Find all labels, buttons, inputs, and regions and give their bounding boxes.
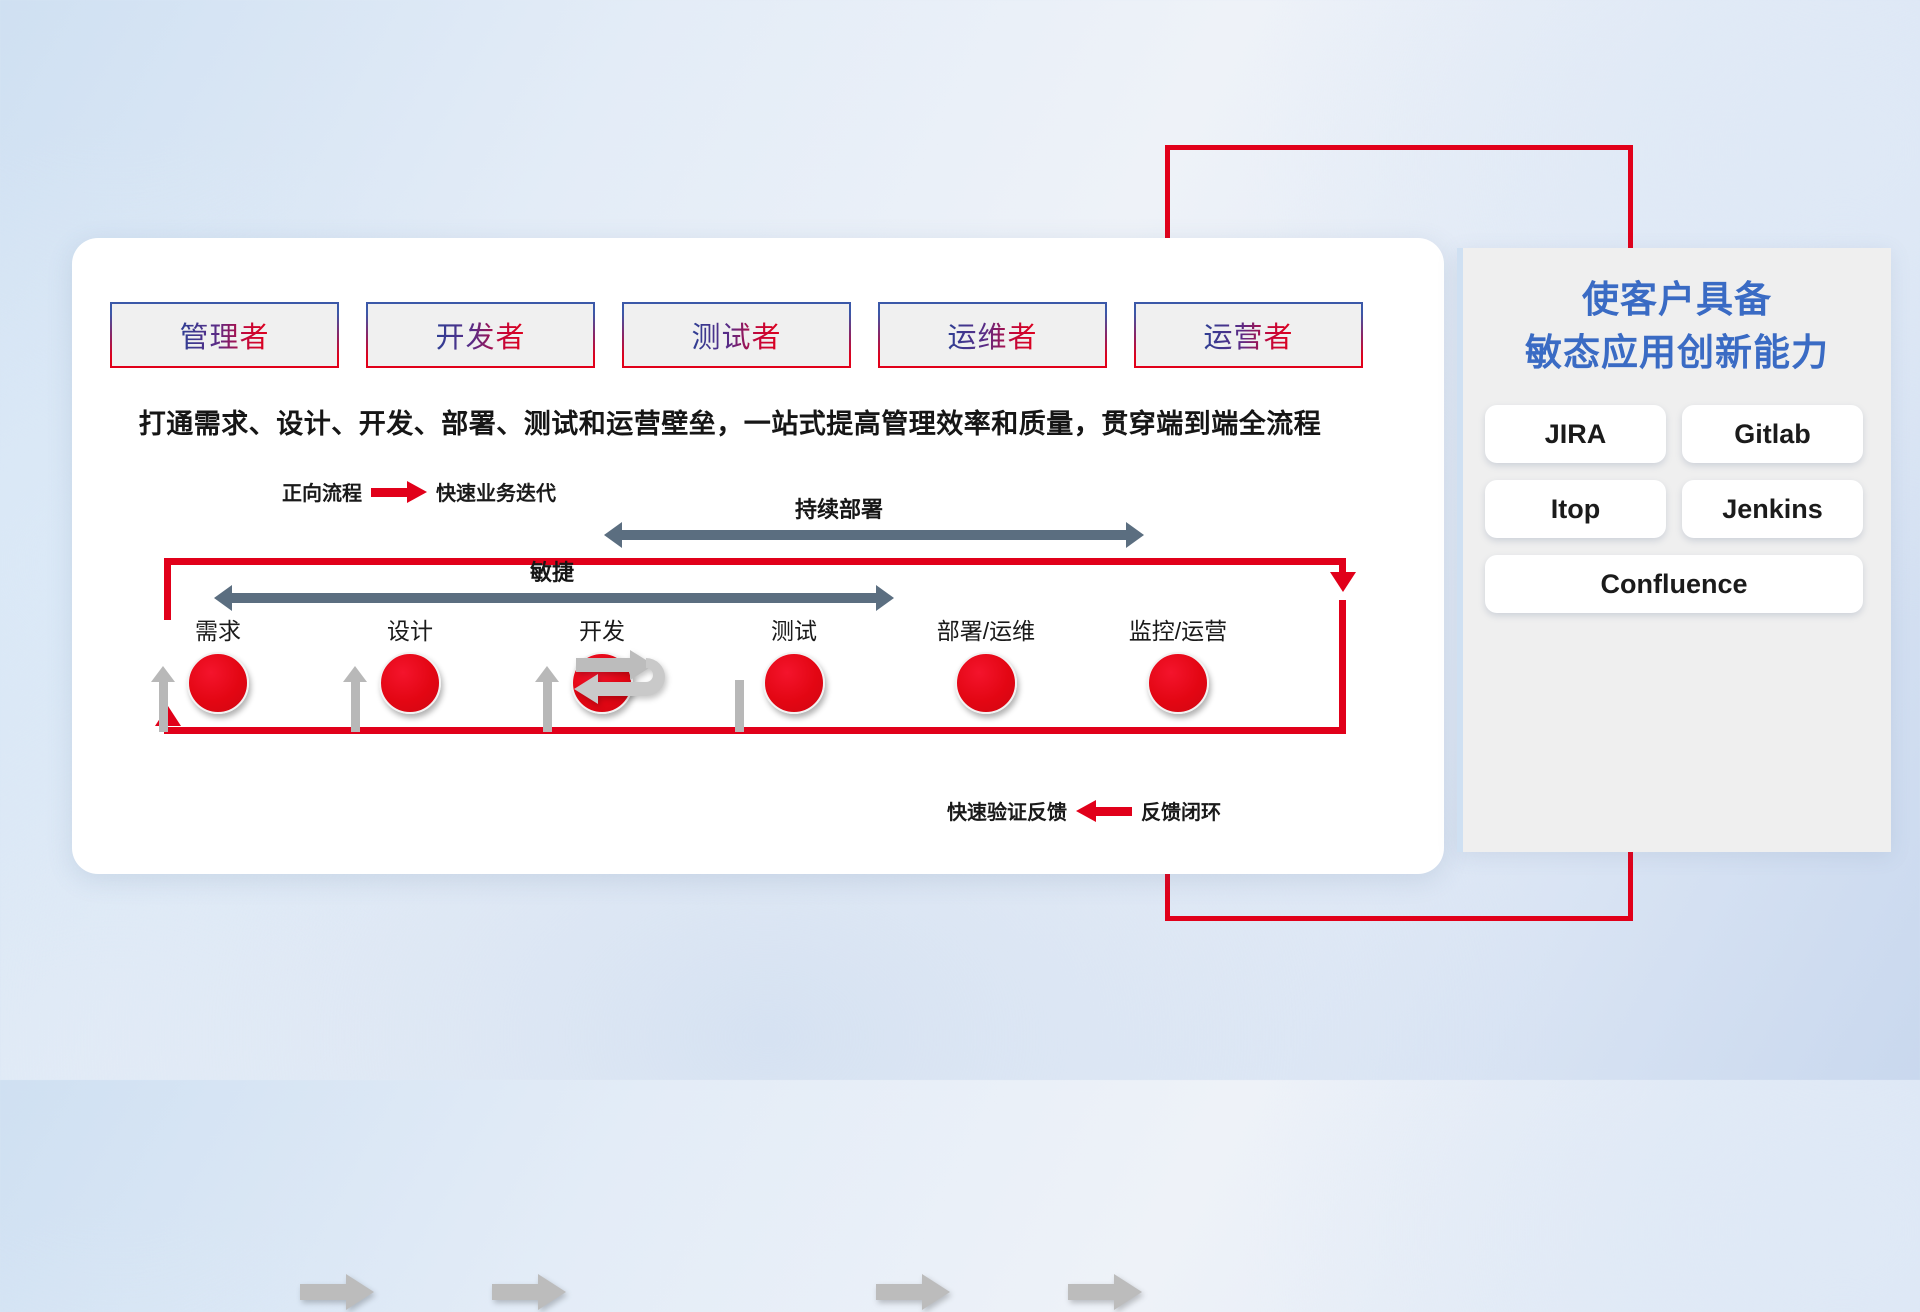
span-label-agile: 敏捷 — [530, 555, 574, 587]
feedback-loop-top — [164, 558, 1346, 565]
tools-panel-title-line1: 使客户具备 — [1485, 274, 1869, 327]
arrow-right-red-icon — [371, 481, 427, 503]
double-arrow-continuous-deployment-icon — [604, 522, 1144, 548]
role-box-developer[interactable]: 开发者 — [366, 302, 595, 368]
stage-dot-icon — [955, 652, 1017, 714]
pipeline-stage-deploy-ops[interactable]: 部署/运维 — [931, 612, 1041, 714]
pipeline-stage-design[interactable]: 设计 — [355, 612, 465, 714]
uturn-loop-arrow-icon — [572, 648, 672, 714]
role-label: 测试者 — [691, 314, 781, 356]
stage-label: 需求 — [163, 612, 273, 646]
stage-label: 监控/运营 — [1123, 612, 1233, 646]
chevron-arrow-2-icon — [492, 1272, 566, 1312]
legend-forward-target-label: 快速业务迭代 — [436, 477, 556, 506]
role-box-manager[interactable]: 管理者 — [110, 302, 339, 368]
double-arrow-agile-icon — [214, 585, 894, 611]
role-box-tester[interactable]: 测试者 — [622, 302, 851, 368]
stage-label: 测试 — [739, 612, 849, 646]
legend-forward-flow: 正向流程 快速业务迭代 — [282, 477, 556, 506]
role-boxes-row: 管理者 开发者 测试者 运维者 运营者 — [110, 302, 1363, 368]
outer-bracket-top — [1165, 145, 1633, 150]
role-label: 管理者 — [179, 314, 269, 356]
pipeline-stage-monitor-operate[interactable]: 监控/运营 — [1123, 612, 1233, 714]
tool-chip-jenkins[interactable]: Jenkins — [1682, 480, 1863, 538]
feedback-loop-left — [164, 558, 171, 620]
stage-dot-icon — [379, 652, 441, 714]
feedback-loop-right-lower — [1339, 600, 1346, 734]
pipeline-stage-requirement[interactable]: 需求 — [163, 612, 273, 714]
role-box-operator[interactable]: 运营者 — [1134, 302, 1363, 368]
chevron-arrow-4-icon — [1068, 1272, 1142, 1312]
tools-panel-title: 使客户具备 敏态应用创新能力 — [1485, 274, 1869, 379]
tool-chip-jira[interactable]: JIRA — [1485, 405, 1666, 463]
chevron-arrow-3-icon — [876, 1272, 950, 1312]
tool-chip-itop[interactable]: Itop — [1485, 480, 1666, 538]
legend-feedback-source-label: 快速验证反馈 — [947, 796, 1067, 825]
chevron-arrow-1-icon — [300, 1272, 374, 1312]
tool-chip-gitlab[interactable]: Gitlab — [1682, 405, 1863, 463]
pipeline-stage-row: 需求 设计 开发 测试 部署/运维 监控/运营 — [108, 612, 1178, 732]
span-label-continuous-deployment: 持续部署 — [795, 492, 883, 524]
tools-panel: 使客户具备 敏态应用创新能力 JIRA Gitlab Itop Jenkins … — [1457, 248, 1891, 852]
outer-bracket-bottom — [1165, 916, 1633, 921]
legend-feedback-loop: 快速验证反馈 反馈闭环 — [947, 796, 1221, 825]
stage-dot-icon — [187, 652, 249, 714]
tool-chip-confluence[interactable]: Confluence — [1485, 555, 1863, 613]
stage-label: 开发 — [547, 612, 657, 646]
legend-forward-source-label: 正向流程 — [282, 477, 362, 506]
role-label: 开发者 — [435, 314, 525, 356]
stage-dot-icon — [1147, 652, 1209, 714]
loop-arrowhead-down-icon — [1330, 572, 1356, 592]
tools-grid: JIRA Gitlab Itop Jenkins Confluence — [1485, 405, 1869, 613]
tools-panel-title-line2: 敏态应用创新能力 — [1485, 327, 1869, 380]
arrow-left-red-icon — [1076, 800, 1132, 822]
role-label: 运维者 — [947, 314, 1037, 356]
stage-label: 设计 — [355, 612, 465, 646]
role-box-ops[interactable]: 运维者 — [878, 302, 1107, 368]
description-text: 打通需求、设计、开发、部署、测试和运营壁垒，一站式提高管理效率和质量，贯穿端到端… — [0, 402, 1460, 441]
stage-dot-icon — [763, 652, 825, 714]
role-label: 运营者 — [1203, 314, 1293, 356]
stage-label: 部署/运维 — [931, 612, 1041, 646]
pipeline-stage-test[interactable]: 测试 — [739, 612, 849, 714]
legend-feedback-target-label: 反馈闭环 — [1141, 796, 1221, 825]
